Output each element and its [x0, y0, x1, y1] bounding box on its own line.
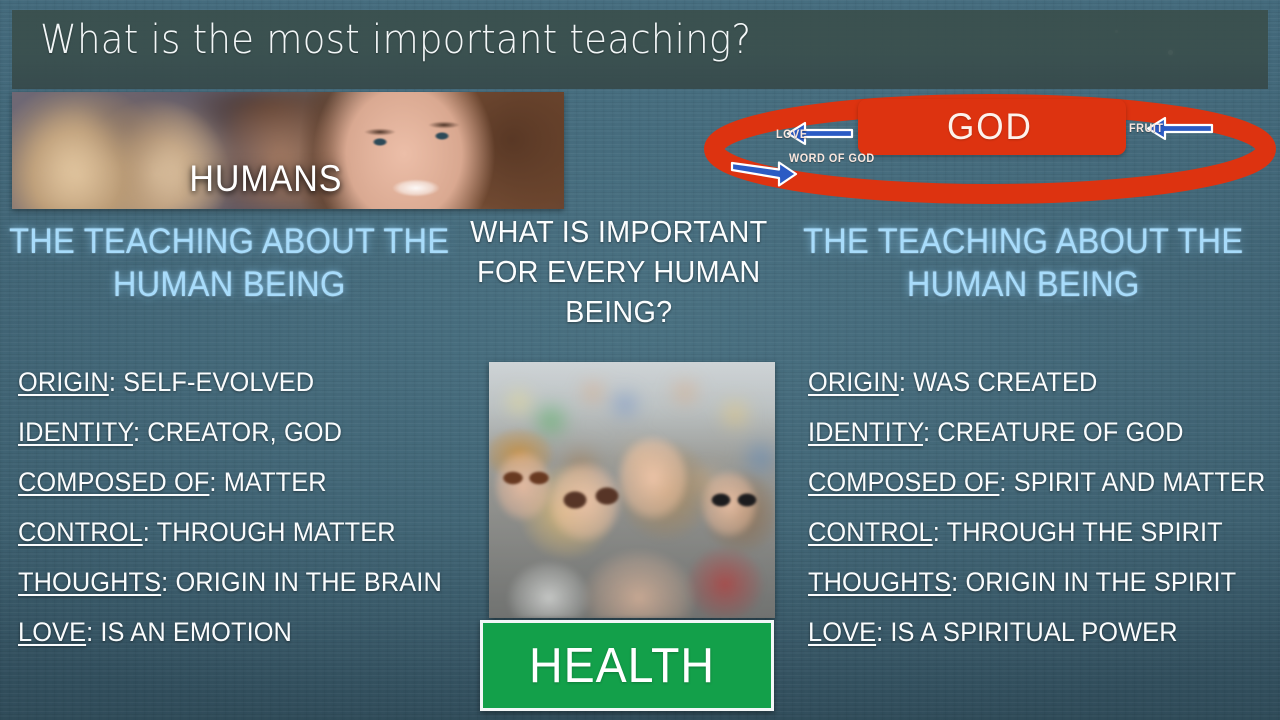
left-attribute-list: ORIGIN: SELF-EVOLVED IDENTITY: CREATOR, …	[18, 357, 469, 657]
attribute-value: WAS CREATED	[913, 367, 1097, 397]
attribute-row: THOUGHTS: ORIGIN IN THE SPIRIT	[808, 557, 1265, 607]
attribute-separator: :	[86, 617, 100, 647]
attribute-value: SPIRIT AND MATTER	[1014, 467, 1266, 497]
humans-photo-banner: HUMANS	[12, 92, 564, 209]
god-label: GOD	[947, 106, 1033, 148]
attribute-key: CONTROL	[18, 517, 143, 547]
attribute-separator: :	[951, 567, 965, 597]
attribute-value: IS AN EMOTION	[100, 617, 292, 647]
attribute-value: IS A SPIRITUAL POWER	[890, 617, 1177, 647]
slide-canvas: What is the most important teaching? HUM…	[0, 0, 1280, 720]
attribute-separator: :	[899, 367, 913, 397]
attribute-key: IDENTITY	[808, 417, 923, 447]
ring-label-fruit: FRUIT	[1129, 121, 1163, 135]
attribute-value: CREATOR, GOD	[147, 417, 342, 447]
health-banner: HEALTH	[480, 620, 774, 711]
attribute-key: ORIGIN	[18, 367, 109, 397]
attribute-row: ORIGIN: SELF-EVOLVED	[18, 357, 442, 407]
ring-label-word-of-god: WORD OF GOD	[789, 151, 875, 165]
attribute-row: CONTROL: THROUGH THE SPIRIT	[808, 507, 1265, 557]
attribute-row: LOVE: IS AN EMOTION	[18, 607, 442, 657]
attribute-value: ORIGIN IN THE SPIRIT	[965, 567, 1236, 597]
attribute-separator: :	[209, 467, 223, 497]
attribute-row: COMPOSED OF: SPIRIT AND MATTER	[808, 457, 1265, 507]
right-attribute-list: ORIGIN: WAS CREATED IDENTITY: CREATURE O…	[808, 357, 1280, 657]
attribute-row: LOVE: IS A SPIRITUAL POWER	[808, 607, 1265, 657]
attribute-value: CREATURE OF GOD	[937, 417, 1183, 447]
crowd-photo	[489, 362, 775, 618]
attribute-separator: :	[933, 517, 947, 547]
attribute-separator: :	[999, 467, 1013, 497]
attribute-key: THOUGHTS	[18, 567, 161, 597]
center-column-heading: WHAT IS IMPORTANT FOR EVERY HUMAN BEING?	[470, 212, 768, 332]
god-cycle-diagram: GOD LOVE FRUIT WORD OF GOD	[700, 88, 1280, 210]
attribute-separator: :	[923, 417, 937, 447]
attribute-key: LOVE	[808, 617, 876, 647]
attribute-value: ORIGIN IN THE BRAIN	[175, 567, 441, 597]
attribute-value: SELF-EVOLVED	[123, 367, 314, 397]
attribute-value: THROUGH THE SPIRIT	[947, 517, 1223, 547]
right-column-heading: THE TEACHING ABOUT THE HUMAN BEING	[800, 220, 1246, 306]
attribute-separator: :	[143, 517, 157, 547]
attribute-row: THOUGHTS: ORIGIN IN THE BRAIN	[18, 557, 442, 607]
attribute-value: MATTER	[224, 467, 327, 497]
attribute-row: IDENTITY: CREATOR, GOD	[18, 407, 442, 457]
attribute-row: CONTROL: THROUGH MATTER	[18, 507, 442, 557]
attribute-separator: :	[109, 367, 123, 397]
attribute-key: LOVE	[18, 617, 86, 647]
left-column-heading: THE TEACHING ABOUT THE HUMAN BEING	[6, 220, 452, 306]
attribute-key: COMPOSED OF	[18, 467, 209, 497]
attribute-row: COMPOSED OF: MATTER	[18, 457, 442, 507]
health-banner-label: HEALTH	[529, 638, 715, 694]
attribute-separator: :	[161, 567, 175, 597]
crowd-shading-layer	[489, 362, 775, 618]
god-center-box: GOD	[858, 99, 1126, 155]
attribute-separator: :	[876, 617, 890, 647]
ring-label-love: LOVE	[776, 127, 808, 141]
attribute-key: CONTROL	[808, 517, 933, 547]
attribute-row: IDENTITY: CREATURE OF GOD	[808, 407, 1265, 457]
attribute-value: THROUGH MATTER	[157, 517, 396, 547]
attribute-key: COMPOSED OF	[808, 467, 999, 497]
attribute-separator: :	[133, 417, 147, 447]
humans-banner-label: HUMANS	[12, 158, 520, 200]
attribute-row: ORIGIN: WAS CREATED	[808, 357, 1265, 407]
attribute-key: ORIGIN	[808, 367, 899, 397]
attribute-key: IDENTITY	[18, 417, 133, 447]
attribute-key: THOUGHTS	[808, 567, 951, 597]
page-title: What is the most important teaching?	[40, 17, 751, 63]
